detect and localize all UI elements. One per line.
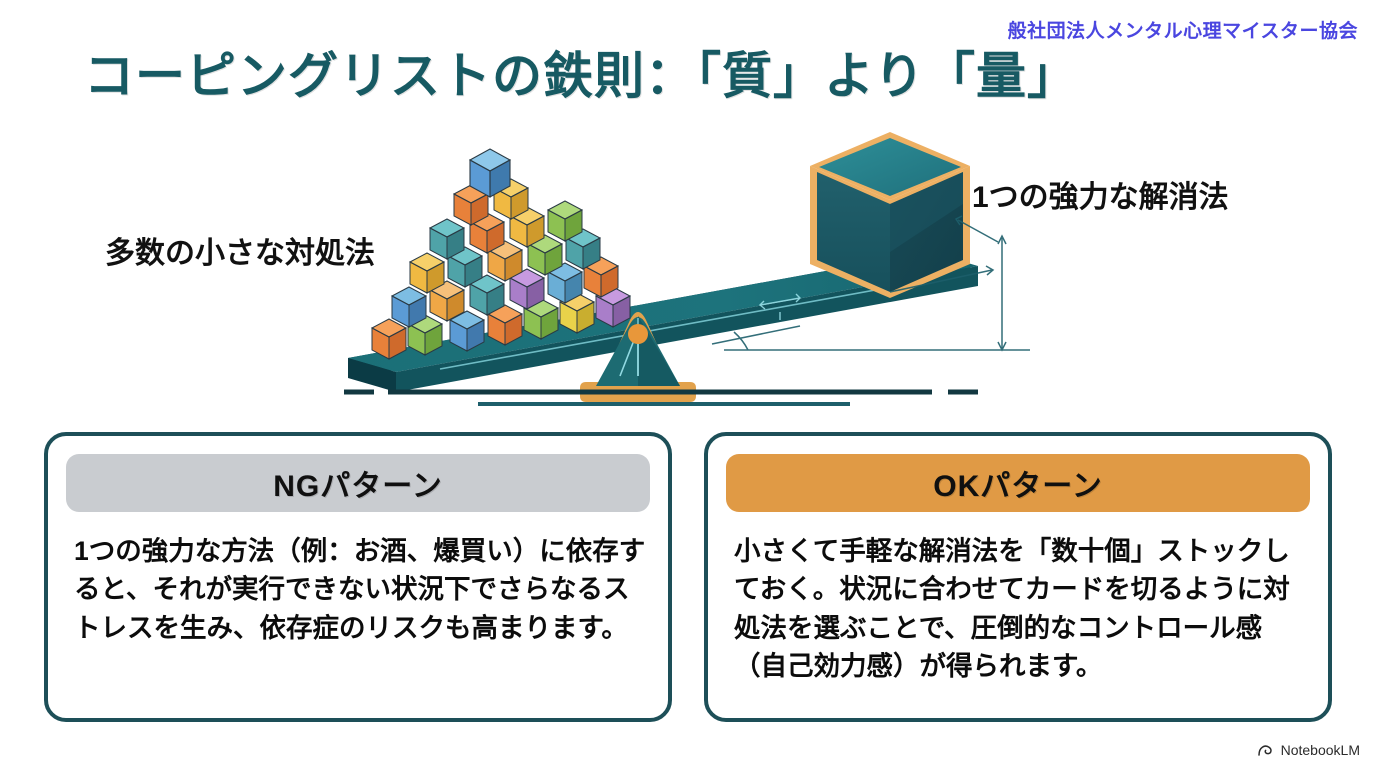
notebooklm-spiral-icon — [1257, 743, 1275, 757]
ok-pattern-card: OKパターン 小さくて手軽な解消法を「数十個」ストックしておく。状況に合わせてカ… — [704, 432, 1332, 722]
notebooklm-label: NotebookLM — [1281, 742, 1360, 758]
ng-pattern-card: NGパターン 1つの強力な方法（例：お酒、爆買い）に依存すると、それが実行できな… — [44, 432, 672, 722]
seesaw-balance-illustration — [330, 120, 1050, 420]
large-single-cube — [810, 132, 970, 298]
slide-canvas: 般社団法人メンタル心理マイスター協会 コーピングリストの鉄則：「質」より「量」 … — [0, 0, 1376, 768]
page-title: コーピングリストの鉄則：「質」より「量」 — [84, 36, 1078, 108]
notebooklm-footer: NotebookLM — [1257, 742, 1360, 758]
ng-pattern-body-text: 1つの強力な方法（例：お酒、爆買い）に依存すると、それが実行できない状況下でさら… — [74, 532, 646, 647]
ok-pattern-body-text: 小さくて手軽な解消法を「数十個」ストックしておく。状況に合わせてカードを切るよう… — [734, 532, 1306, 686]
ok-pattern-badge: OKパターン — [726, 454, 1310, 512]
ng-pattern-badge: NGパターン — [66, 454, 650, 512]
